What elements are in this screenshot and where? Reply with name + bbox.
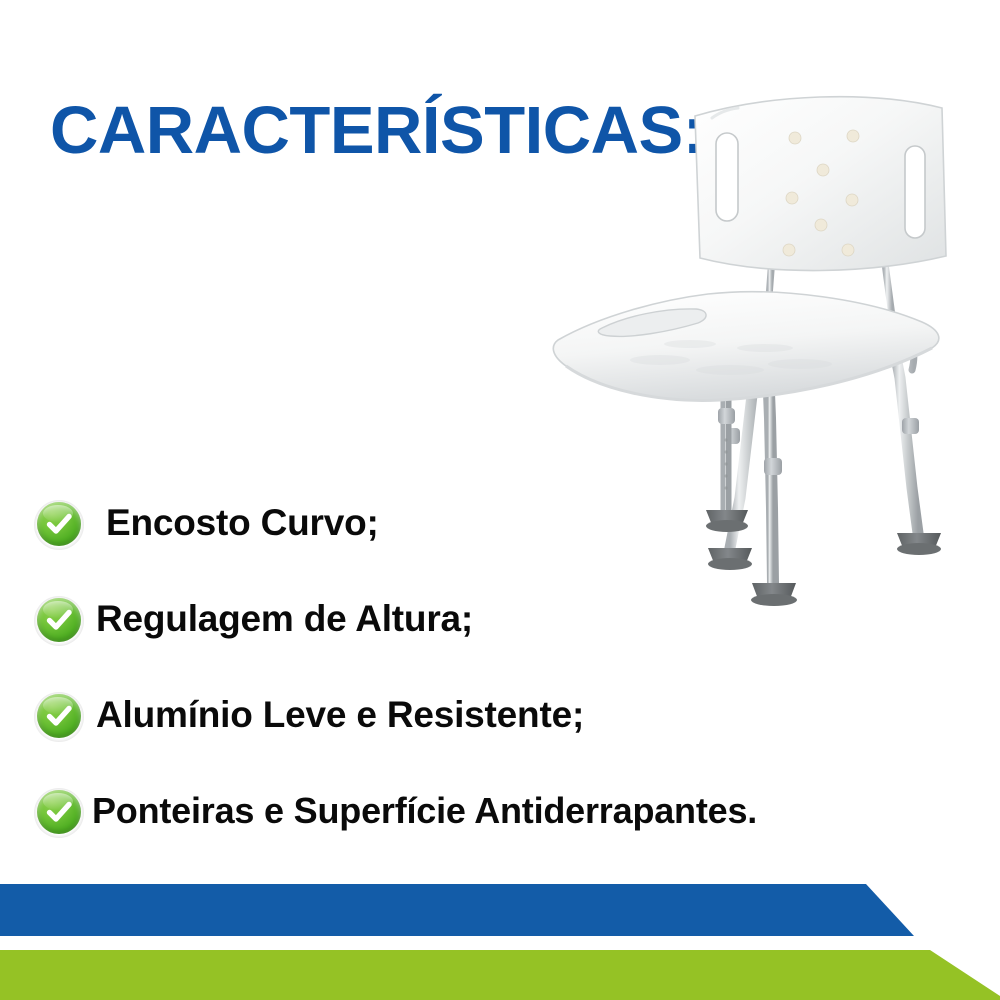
feature-label: Ponteiras e Superfície Antiderrapantes.: [92, 786, 757, 836]
green-check-circle-icon: [34, 788, 84, 838]
feature-label: Regulagem de Altura;: [96, 594, 473, 644]
banner-bar-green: [0, 950, 1000, 1000]
chair-seat: [553, 292, 939, 401]
feature-item-3: Ponteiras e Superfície Antiderrapantes.: [34, 786, 964, 882]
feature-item-0: Encosto Curvo;: [34, 498, 964, 594]
green-check-circle-icon: [34, 500, 84, 550]
product-feature-graphic: CARACTERÍSTICAS:: [0, 0, 1000, 1000]
feature-list: Encosto Curvo; Regulagem de Altura; Alum…: [34, 498, 964, 882]
feature-item-1: Regulagem de Altura;: [34, 594, 964, 690]
green-check-circle-icon: [34, 692, 84, 742]
feature-label: Alumínio Leve e Resistente;: [96, 690, 584, 740]
feature-label: Encosto Curvo;: [106, 498, 379, 548]
chair-backrest: [695, 97, 946, 271]
banner-bar-blue: [0, 884, 1000, 936]
green-check-circle-icon: [34, 596, 84, 646]
feature-item-2: Alumínio Leve e Resistente;: [34, 690, 964, 786]
